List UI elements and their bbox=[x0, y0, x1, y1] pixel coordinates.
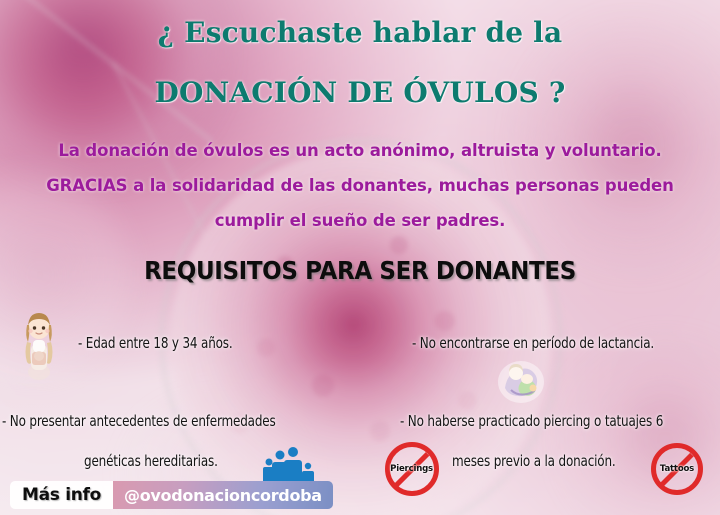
requirement-genetic-line-2: genéticas hereditarias. bbox=[84, 452, 218, 470]
requirement-piercing-line-1: - No haberse practicado piercing o tatua… bbox=[400, 412, 663, 430]
headline-line-1: ¿ Escuchaste hablar de la bbox=[0, 16, 720, 49]
family-silhouette-icon bbox=[260, 446, 320, 484]
requirements-section-title: REQUISITOS PARA SER DONANTES bbox=[29, 256, 691, 285]
no-tattoos-sign: Tattoos bbox=[651, 443, 703, 495]
more-info-label: Más info bbox=[10, 481, 113, 509]
requirement-piercing-line-2: meses previo a la donación. bbox=[452, 452, 616, 470]
ovodonacion-poster: ¿ Escuchaste hablar de la DONACIÓN DE ÓV… bbox=[0, 0, 720, 515]
requirement-age: - Edad entre 18 y 34 años. bbox=[78, 334, 233, 352]
requirement-genetic-line-1: - No presentar antecedentes de enfermeda… bbox=[2, 412, 276, 430]
no-piercings-sign: Piercings bbox=[385, 442, 439, 496]
breastfeeding-icon bbox=[497, 358, 545, 404]
instagram-handle[interactable]: @ovodonacioncordoba bbox=[113, 481, 333, 509]
woman-illustration-icon bbox=[14, 308, 64, 380]
no-piercings-label: Piercings bbox=[391, 464, 434, 474]
lead-paragraph-line-3: cumplir el sueño de ser padres. bbox=[0, 211, 720, 230]
no-tattoos-label: Tattoos bbox=[660, 464, 694, 474]
footer-bar: Más info @ovodonacioncordoba bbox=[10, 481, 333, 509]
lead-paragraph-line-1: La donación de óvulos es un acto anónimo… bbox=[0, 141, 720, 160]
requirement-lactation: - No encontrarse en período de lactancia… bbox=[412, 334, 654, 352]
poster-content: ¿ Escuchaste hablar de la DONACIÓN DE ÓV… bbox=[0, 0, 720, 515]
headline-line-2: DONACIÓN DE ÓVULOS ? bbox=[0, 76, 720, 109]
lead-paragraph-line-2: GRACIAS a la solidaridad de las donantes… bbox=[0, 176, 720, 195]
